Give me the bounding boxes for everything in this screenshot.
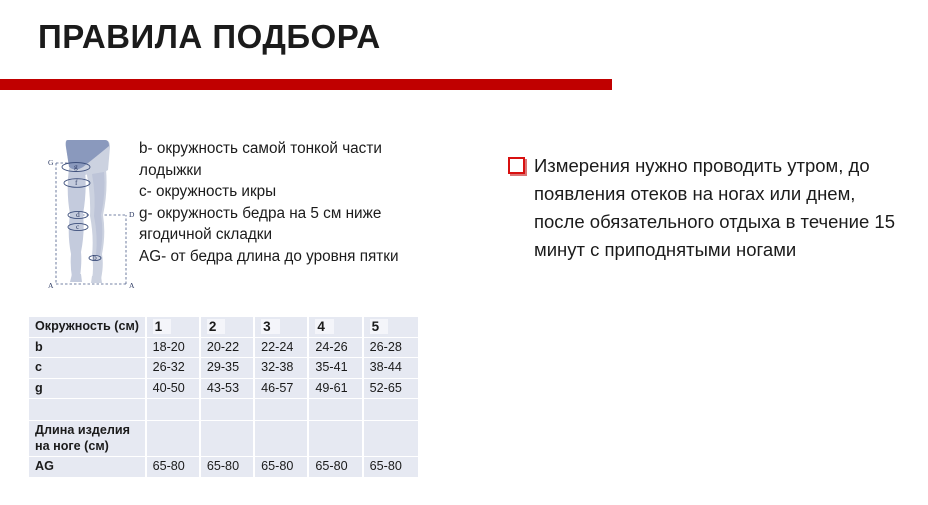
spacer-cell-2 — [201, 399, 255, 421]
spacer-cell-1 — [147, 399, 201, 421]
cell-b-1: 18-20 — [147, 338, 201, 359]
leg-measurement-diagram: g f d c b G D A A — [42, 122, 142, 302]
table-row: b 18-20 20-22 22-24 24-26 26-28 — [29, 338, 418, 359]
col-num-1: 1 — [153, 319, 172, 334]
cell-g-4: 49-61 — [309, 379, 363, 400]
table-header-col-5: 5 — [364, 317, 418, 338]
cell-g-5: 52-65 — [364, 379, 418, 400]
size-chart-table: Окружность (см) 1 2 3 4 5 b 18-20 20-22 … — [29, 317, 418, 478]
cell-b-2: 20-22 — [201, 338, 255, 359]
cell-b-4: 24-26 — [309, 338, 363, 359]
note-text: Измерения нужно проводить утром, до появ… — [534, 152, 908, 264]
spacer-cell-4 — [309, 399, 363, 421]
legend-line-g: g- окружность бедра на 5 см ниже ягодичн… — [139, 203, 439, 246]
spacer-cell-3 — [255, 399, 309, 421]
legend-line-ag: AG- от бедра длина до уровня пятки — [139, 246, 439, 268]
cell-g-3: 46-57 — [255, 379, 309, 400]
legend-line-c: c- окружность икры — [139, 181, 439, 203]
table-header-row: Окружность (см) 1 2 3 4 5 — [29, 317, 418, 338]
table-header-col-4: 4 — [309, 317, 363, 338]
row-label-g: g — [29, 379, 147, 400]
cell-ag-1: 65-80 — [147, 457, 201, 478]
svg-text:A: A — [129, 281, 135, 290]
svg-text:d: d — [76, 210, 80, 219]
table-row: g 40-50 43-53 46-57 49-61 52-65 — [29, 379, 418, 400]
svg-text:G: G — [48, 158, 54, 167]
row-label-ag: AG — [29, 457, 147, 478]
col-num-3: 3 — [261, 319, 280, 334]
table-spacer-row — [29, 399, 418, 421]
section-cell-2 — [201, 421, 255, 457]
table-header-label: Окружность (см) — [29, 317, 147, 338]
svg-text:D: D — [129, 210, 135, 219]
section-label-length: Длина изделия на ноге (см) — [29, 421, 147, 457]
table-row: c 26-32 29-35 32-38 35-41 38-44 — [29, 358, 418, 379]
col-num-5: 5 — [370, 319, 389, 334]
col-num-4: 4 — [315, 319, 334, 334]
cell-ag-5: 65-80 — [364, 457, 418, 478]
cell-c-4: 35-41 — [309, 358, 363, 379]
title-accent-rule — [0, 79, 612, 90]
section-cell-5 — [364, 421, 418, 457]
cell-g-2: 43-53 — [201, 379, 255, 400]
cell-ag-3: 65-80 — [255, 457, 309, 478]
cell-c-5: 38-44 — [364, 358, 418, 379]
cell-c-3: 32-38 — [255, 358, 309, 379]
section-cell-4 — [309, 421, 363, 457]
col-num-2: 2 — [207, 319, 226, 334]
measurement-legend: b- окружность самой тонкой части лодыжки… — [139, 138, 439, 268]
table-header-col-3: 3 — [255, 317, 309, 338]
section-cell-3 — [255, 421, 309, 457]
table-section-row: Длина изделия на ноге (см) — [29, 421, 418, 457]
cell-c-2: 29-35 — [201, 358, 255, 379]
cell-b-3: 22-24 — [255, 338, 309, 359]
table-header-col-2: 2 — [201, 317, 255, 338]
spacer-cell-5 — [364, 399, 418, 421]
cell-ag-2: 65-80 — [201, 457, 255, 478]
measurement-advice-note: Измерения нужно проводить утром, до появ… — [508, 152, 908, 264]
cell-g-1: 40-50 — [147, 379, 201, 400]
red-square-bullet-icon — [508, 157, 525, 174]
cell-b-5: 26-28 — [364, 338, 418, 359]
row-label-c: c — [29, 358, 147, 379]
legend-line-b: b- окружность самой тонкой части лодыжки — [139, 138, 439, 181]
section-cell-1 — [147, 421, 201, 457]
row-label-b: b — [29, 338, 147, 359]
table-header-col-1: 1 — [147, 317, 201, 338]
cell-ag-4: 65-80 — [309, 457, 363, 478]
table-row: AG 65-80 65-80 65-80 65-80 65-80 — [29, 457, 418, 478]
svg-text:b: b — [93, 253, 97, 262]
page-title: ПРАВИЛА ПОДБОРА — [38, 18, 381, 56]
cell-c-1: 26-32 — [147, 358, 201, 379]
svg-text:A: A — [48, 281, 54, 290]
spacer-label — [29, 399, 147, 421]
svg-text:g: g — [74, 162, 78, 171]
